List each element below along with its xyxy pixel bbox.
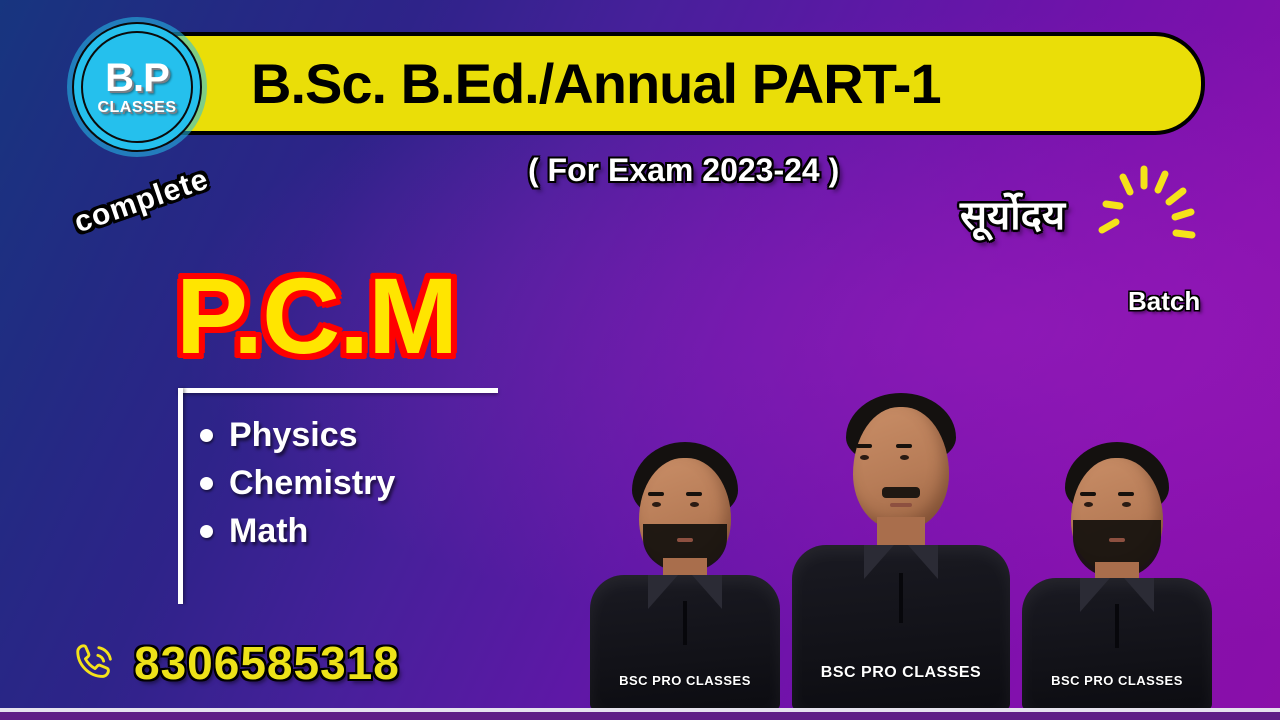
face: [853, 407, 949, 529]
batch-name: सूर्योदय: [960, 196, 1065, 236]
brow-left: [856, 444, 872, 448]
exam-year-subtitle: ( For Exam 2023-24 ): [528, 152, 839, 189]
logo-initials: B.P: [105, 58, 169, 98]
shirt-logo-text: BSC PRO CLASSES: [619, 673, 751, 688]
brow-left: [648, 492, 664, 496]
collar-left: [1080, 578, 1110, 612]
bottom-purple-bar: [0, 712, 1280, 720]
shirt-placket: [683, 601, 687, 645]
shirt-placket: [1115, 604, 1119, 648]
sparkle-icon: [1092, 160, 1202, 270]
brow-left: [1080, 492, 1096, 496]
collar-left: [648, 575, 678, 609]
batch-name-block: सूर्योदय Batch: [960, 196, 1065, 236]
eye-right: [690, 502, 699, 507]
eye-left: [652, 502, 661, 507]
eye-right: [900, 455, 909, 460]
subject-list: Physics Chemistry Math: [200, 418, 395, 562]
subject-label: Math: [229, 514, 308, 548]
phone-call-icon: [72, 640, 118, 686]
batch-label: Batch: [1128, 286, 1200, 317]
faculty-member-center: BSC PRO CLASSES: [792, 385, 1010, 710]
polo-shirt: BSC PRO CLASSES: [1022, 578, 1212, 710]
moustache: [882, 487, 920, 498]
pcm-headline: P.C.M: [176, 262, 457, 370]
subject-label: Chemistry: [229, 466, 395, 500]
subject-label: Physics: [229, 418, 358, 452]
bullet-icon: [200, 429, 213, 442]
shirt-logo-text: BSC PRO CLASSES: [821, 664, 981, 682]
phone-number: 8306585318: [134, 640, 400, 686]
list-item: Physics: [200, 418, 395, 452]
faculty-member-right: BSC PRO CLASSES: [1022, 422, 1212, 710]
eye-left: [860, 455, 869, 460]
bullet-icon: [200, 525, 213, 538]
brow-right: [896, 444, 912, 448]
title-banner: B.Sc. B.Ed./Annual PART-1: [152, 32, 1205, 135]
collar-right: [692, 575, 722, 609]
promo-poster: BSC PRO CLASSES BSC PRO CLASSES: [0, 0, 1280, 720]
page-title: B.Sc. B.Ed./Annual PART-1: [251, 51, 941, 116]
collar-right: [908, 545, 938, 579]
mouth: [890, 503, 912, 507]
faculty-photo-group: BSC PRO CLASSES BSC PRO CLASSES: [560, 380, 1220, 710]
faculty-member-left: BSC PRO CLASSES: [590, 420, 780, 710]
shirt-logo-text: BSC PRO CLASSES: [1051, 673, 1183, 688]
subject-frame-left-rule: [178, 388, 183, 604]
list-item: Math: [200, 514, 395, 548]
brow-right: [1118, 492, 1134, 496]
contact-phone[interactable]: 8306585318: [72, 640, 400, 686]
complete-kicker: complete: [70, 163, 213, 241]
collar-left: [864, 545, 894, 579]
subject-frame-top-rule: [178, 388, 498, 393]
mouth: [1109, 538, 1125, 542]
eye-right: [1122, 502, 1131, 507]
eye-left: [1084, 502, 1093, 507]
logo-subtext: CLASSES: [97, 100, 176, 116]
polo-shirt: BSC PRO CLASSES: [590, 575, 780, 710]
bp-classes-logo: B.P CLASSES: [72, 22, 202, 152]
collar-right: [1124, 578, 1154, 612]
brow-right: [686, 492, 702, 496]
bullet-icon: [200, 477, 213, 490]
list-item: Chemistry: [200, 466, 395, 500]
shirt-placket: [899, 573, 903, 623]
mouth: [677, 538, 693, 542]
polo-shirt: BSC PRO CLASSES: [792, 545, 1010, 710]
